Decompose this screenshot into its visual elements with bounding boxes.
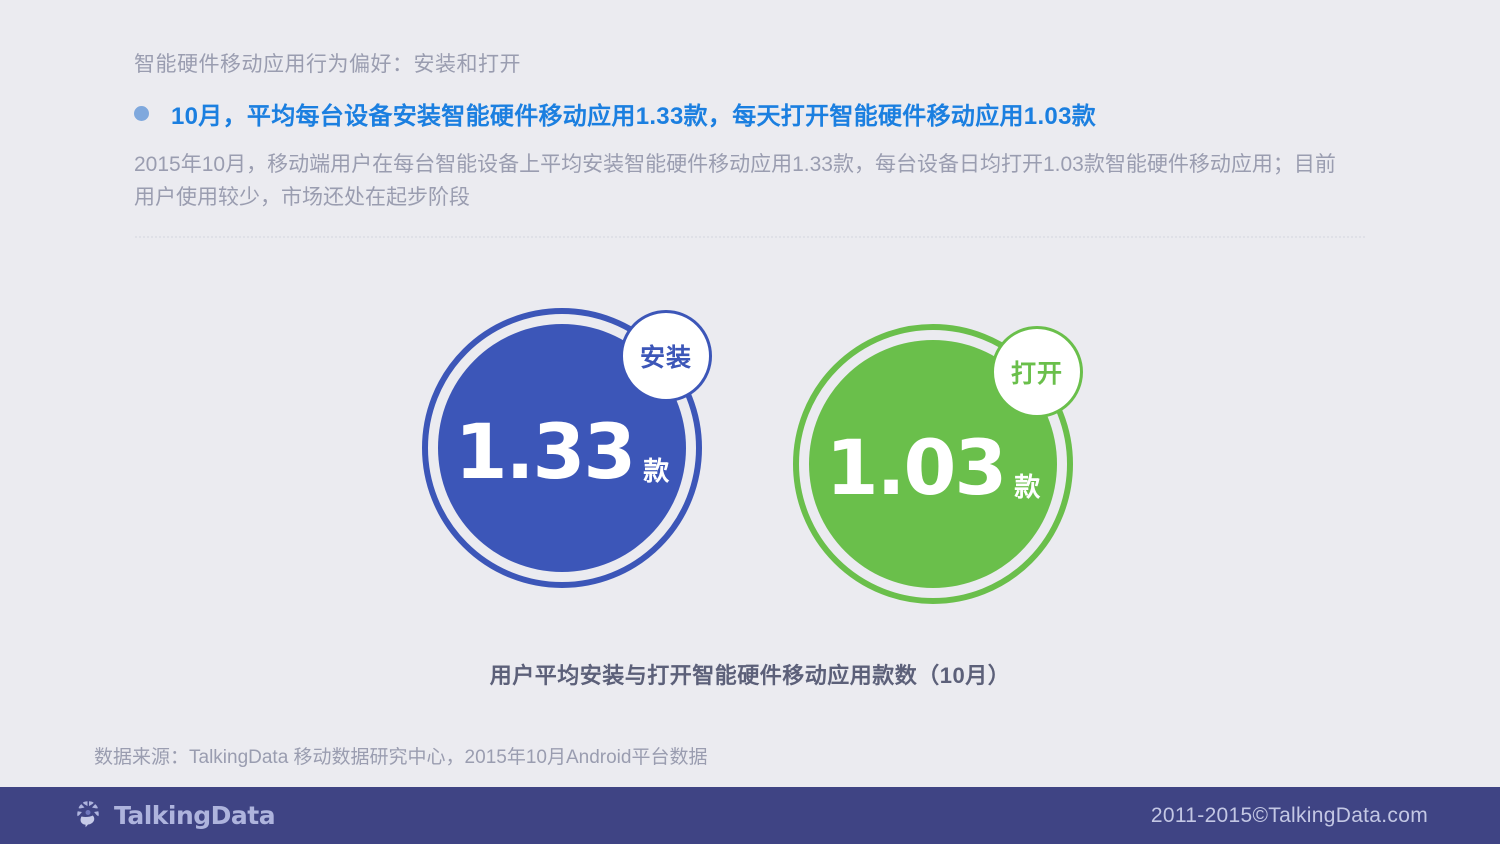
- page-title: 10月，平均每台设备安装智能硬件移动应用1.33款，每天打开智能硬件移动应用1.…: [171, 96, 1096, 131]
- bullet-dot-icon: [134, 106, 149, 121]
- metric-badge-label: 安装: [640, 338, 692, 374]
- metric-open: 1.03 款 打开: [793, 324, 1073, 604]
- dotted-divider: [134, 236, 1366, 238]
- summary-paragraph: 2015年10月，移动端用户在每台智能设备上平均安装智能硬件移动应用1.33款，…: [134, 148, 1349, 214]
- pinwheel-logo-icon: [72, 797, 104, 834]
- slide-kicker: 智能硬件移动应用行为偏好：安装和打开: [134, 48, 521, 78]
- chart-caption: 用户平均安装与打开智能硬件移动应用款数（10月）: [0, 658, 1500, 690]
- footer-bar: TalkingData 2011-2015©TalkingData.com: [0, 787, 1500, 844]
- headline-row: 10月，平均每台设备安装智能硬件移动应用1.33款，每天打开智能硬件移动应用1.…: [134, 96, 1096, 131]
- metric-badge-install: 安装: [620, 310, 712, 402]
- brand-logo: TalkingData: [72, 797, 275, 834]
- footer-copyright: 2011-2015©TalkingData.com: [1151, 804, 1428, 828]
- metric-badge-label: 打开: [1011, 354, 1063, 390]
- brand-name: TalkingData: [114, 801, 275, 830]
- metrics-visualization: 1.33 款 安装 1.03 款 打开: [0, 290, 1500, 620]
- metric-install: 1.33 款 安装: [422, 308, 702, 588]
- slide-canvas: 智能硬件移动应用行为偏好：安装和打开 10月，平均每台设备安装智能硬件移动应用1…: [0, 0, 1500, 844]
- data-source-note: 数据来源：TalkingData 移动数据研究中心，2015年10月Androi…: [94, 742, 707, 769]
- metric-badge-open: 打开: [991, 326, 1083, 418]
